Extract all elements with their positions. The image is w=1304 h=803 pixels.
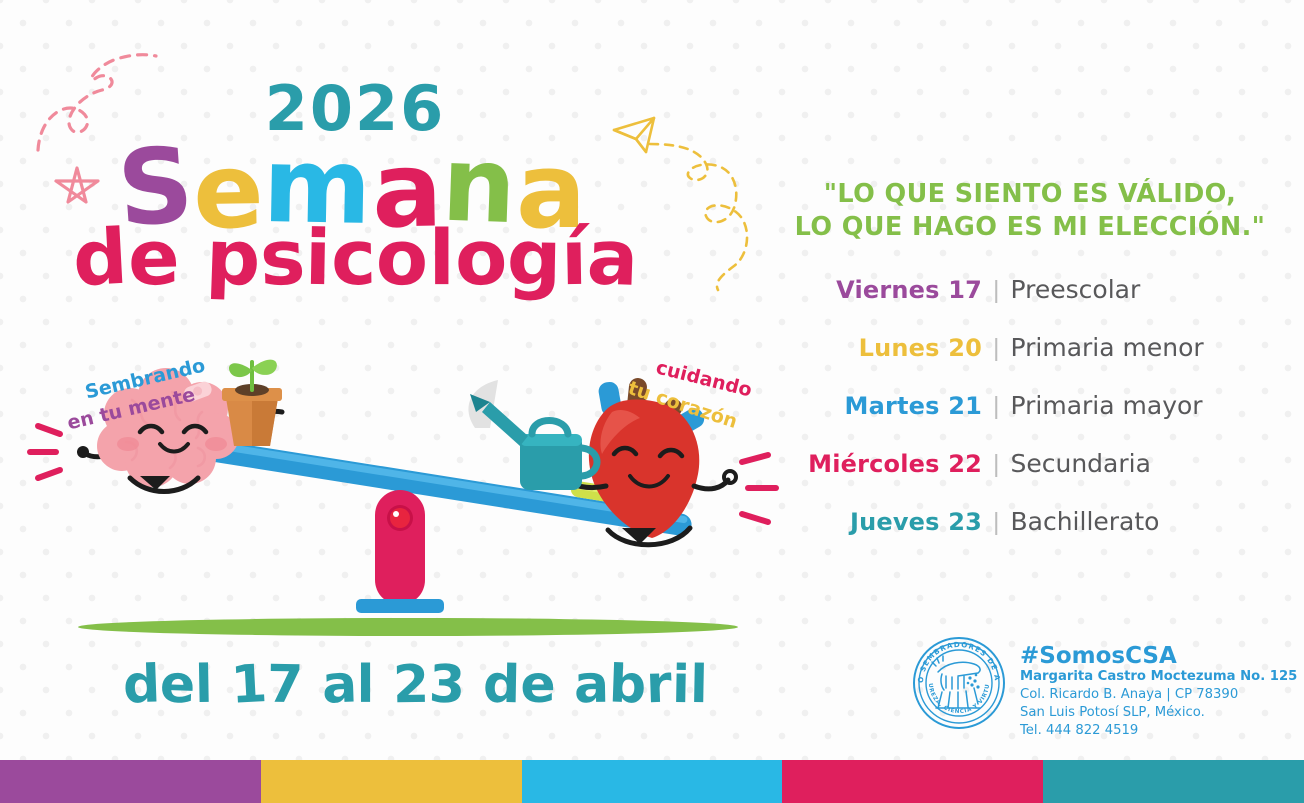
quote-text: "LO QUE SIENTO ES VÁLIDO, LO QUE HAGO ES… — [770, 178, 1290, 243]
seal-outer-text: COLEGIO SEMBRADORES DE AMISTAD — [912, 636, 1002, 683]
address-line-4: Tel. 444 822 4519 — [1020, 722, 1297, 740]
subtitle-letter: s — [259, 221, 307, 295]
date-letter: d — [122, 654, 161, 715]
date-letter: b — [608, 654, 647, 715]
schedule-list: Viernes 17 | Preescolar Lunes 20 | Prima… — [770, 275, 1290, 565]
date-letter: 7 — [267, 655, 304, 716]
seesaw-fulcrum — [356, 490, 444, 613]
schedule-level: Primaria menor — [1011, 333, 1204, 362]
watering-can — [468, 380, 597, 490]
date-letter: l — [195, 655, 214, 715]
date-letter: l — [689, 655, 708, 715]
schedule-separator: | — [982, 276, 1011, 305]
color-band-teal — [1043, 760, 1304, 803]
schedule-day: Miércoles 22 — [770, 450, 982, 478]
color-band-yellow — [261, 760, 522, 803]
school-seal-logo: COLEGIO SEMBRADORES DE AMISTAD PUREZA, C… — [912, 636, 1006, 730]
date-letter: a — [321, 654, 358, 715]
schedule-separator: | — [982, 392, 1011, 421]
schedule-separator: | — [982, 334, 1011, 363]
date-letter — [302, 655, 322, 716]
schedule-row: Lunes 20 | Primaria menor — [770, 333, 1290, 391]
schedule-row: Martes 21 | Primaria mayor — [770, 391, 1290, 449]
schedule-level: Secundaria — [1011, 449, 1151, 478]
date-letter: d — [483, 655, 521, 716]
schedule-day: Lunes 20 — [770, 334, 982, 362]
schedule-day: Martes 21 — [770, 392, 982, 420]
title-block: 2026 Semana de psicología — [0, 78, 720, 294]
subtitle-letter: i — [305, 221, 332, 294]
subtitle-letter: e — [127, 221, 180, 294]
schedule-day: Viernes 17 — [770, 276, 982, 304]
schedule-row: Viernes 17 | Preescolar — [770, 275, 1290, 333]
date-letter: a — [573, 655, 609, 716]
subtitle-letter: a — [586, 221, 640, 295]
date-range-text: del 17 al 23 de abril — [0, 655, 830, 715]
quote-line-2: LO QUE HAGO ES MI ELECCIÓN." — [770, 211, 1290, 244]
color-band-purple — [0, 760, 261, 803]
date-letter — [464, 655, 484, 716]
schedule-level: Bachillerato — [1011, 507, 1160, 536]
schedule-level: Preescolar — [1011, 275, 1141, 304]
subtitle-letter: g — [506, 221, 562, 294]
poster-canvas: 2026 Semana de psicología "LO QUE SIENTO… — [0, 0, 1304, 803]
date-letter: l — [357, 655, 375, 715]
schedule-separator: | — [982, 508, 1011, 537]
brand-text-block: #SomosCSA Margarita Castro Moctezuma No.… — [1020, 636, 1297, 740]
color-band-cyan — [522, 760, 783, 803]
address-line-1: Margarita Castro Moctezuma No. 125 — [1020, 668, 1297, 686]
ground-shadow — [78, 618, 738, 636]
schedule-separator: | — [982, 450, 1011, 479]
date-letter: e — [520, 655, 555, 715]
date-letter: r — [645, 655, 673, 716]
date-letter: e — [159, 654, 196, 715]
subtitle-letter: d — [71, 220, 129, 295]
schedule-row: Jueves 23 | Bachillerato — [770, 507, 1290, 565]
date-letter — [554, 655, 575, 716]
date-letter: 2 — [392, 655, 429, 716]
schedule-day: Jueves 23 — [770, 508, 982, 536]
quote-line-1: "LO QUE SIENTO ES VÁLIDO, — [770, 178, 1290, 211]
subtitle-letter: í — [561, 221, 588, 294]
schedule-level: Primaria mayor — [1011, 391, 1203, 420]
bottom-color-bar — [0, 760, 1304, 803]
color-band-pink — [782, 760, 1043, 803]
address-line-2: Col. Ricardo B. Anaya | CP 78390 — [1020, 686, 1297, 704]
address-line-3: San Luis Potosí SLP, México. — [1020, 704, 1297, 722]
date-letter — [374, 655, 393, 715]
date-letter: 1 — [230, 654, 269, 716]
subtitle-letter: o — [375, 221, 430, 295]
svg-text:COLEGIO SEMBRADORES DE AMISTAD: COLEGIO SEMBRADORES DE AMISTAD — [912, 636, 1002, 683]
subtitle-letter — [179, 222, 205, 294]
subtitle-letter: c — [331, 221, 377, 294]
date-letter: i — [671, 655, 690, 715]
title-subtitle: de psicología — [0, 222, 720, 294]
date-letter: 3 — [428, 654, 466, 715]
brand-block: COLEGIO SEMBRADORES DE AMISTAD PUREZA, C… — [912, 636, 1297, 740]
date-range-label: del 17 al 23 de abril — [123, 655, 708, 715]
subtitle-letter: p — [204, 221, 261, 295]
subtitle-text: de psicología — [73, 222, 638, 294]
subtitle-letter: o — [454, 221, 509, 295]
subtitle-letter: l — [429, 222, 455, 294]
schedule-row: Miércoles 22 | Secundaria — [770, 449, 1290, 507]
hashtag-somoscsa: #SomosCSA — [1020, 644, 1297, 668]
